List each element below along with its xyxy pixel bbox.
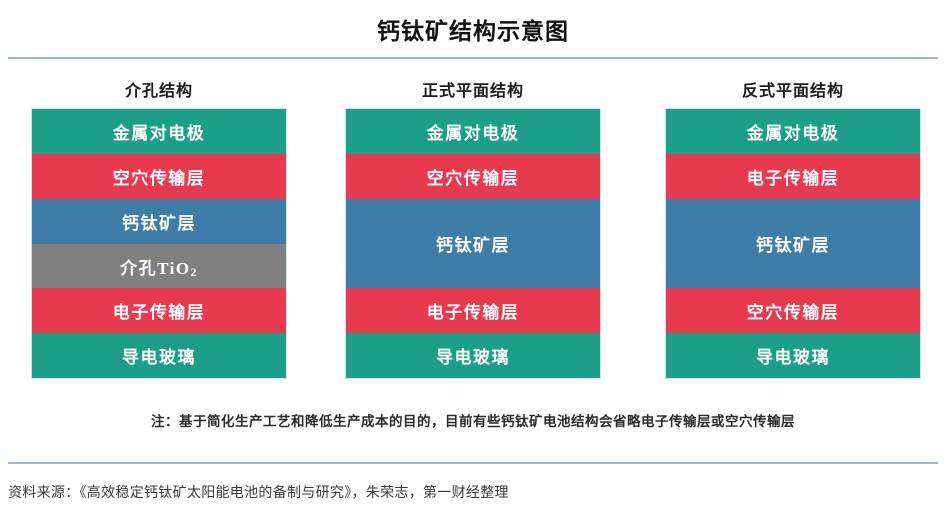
divider-bottom <box>8 462 938 464</box>
structure-layer: 空穴传输层 <box>666 288 920 333</box>
structure-layer: 金属对电极 <box>666 109 920 154</box>
structure-layer-label: 电子传输层 <box>427 298 520 323</box>
structure-layer: 导电玻璃 <box>666 333 920 378</box>
structure-layer-label: 介孔TiO2 <box>120 254 198 279</box>
layer-stack: 金属对电极空穴传输层钙钛矿层介孔TiO2电子传输层导电玻璃 <box>31 108 287 379</box>
structure-layer: 电子传输层 <box>346 288 600 333</box>
diagram-note: 注：基于简化生产工艺和降低生产成本的目的，目前有些钙钛矿电池结构会省略电子传输层… <box>0 410 946 430</box>
structure-layer: 钙钛矿层 <box>32 199 286 244</box>
structure-layer-label: 导电玻璃 <box>436 343 510 368</box>
structure-layer: 导电玻璃 <box>346 333 600 378</box>
structure-layer: 电子传输层 <box>32 288 286 333</box>
structure-layer-label: 钙钛矿层 <box>756 231 830 256</box>
structure-layer: 空穴传输层 <box>346 154 600 199</box>
structure-layer-label: 金属对电极 <box>427 119 520 144</box>
column-header: 介孔结构 <box>31 78 287 108</box>
structure-column-mesoporous: 介孔结构 金属对电极空穴传输层钙钛矿层介孔TiO2电子传输层导电玻璃 <box>31 78 287 379</box>
structure-layer: 电子传输层 <box>666 154 920 199</box>
structure-layer-label: 空穴传输层 <box>747 298 840 323</box>
structure-layer-label: 空穴传输层 <box>427 164 520 189</box>
structure-layer: 金属对电极 <box>346 109 600 154</box>
structure-layer: 介孔TiO2 <box>32 244 286 288</box>
structure-layer: 空穴传输层 <box>32 154 286 199</box>
divider-top <box>8 57 938 59</box>
structure-layer-label: 钙钛矿层 <box>122 209 196 234</box>
structure-layer-label: 导电玻璃 <box>122 343 196 368</box>
structure-layer-label: 钙钛矿层 <box>436 231 510 256</box>
structure-column-regular-planar: 正式平面结构 金属对电极空穴传输层钙钛矿层电子传输层导电玻璃 <box>345 78 601 379</box>
page-title: 钙钛矿结构示意图 <box>0 12 946 46</box>
structure-layer: 金属对电极 <box>32 109 286 154</box>
layer-stack: 金属对电极电子传输层钙钛矿层空穴传输层导电玻璃 <box>665 108 921 379</box>
structure-layer-label: 导电玻璃 <box>756 343 830 368</box>
structure-layer: 导电玻璃 <box>32 333 286 378</box>
structure-layer-label: 电子传输层 <box>747 164 840 189</box>
perovskite-structure-diagram: 介孔结构 金属对电极空穴传输层钙钛矿层介孔TiO2电子传输层导电玻璃 正式平面结… <box>0 78 946 388</box>
structure-column-inverted-planar: 反式平面结构 金属对电极电子传输层钙钛矿层空穴传输层导电玻璃 <box>665 78 921 379</box>
structure-layer-label: 空穴传输层 <box>113 164 206 189</box>
structure-layer: 钙钛矿层 <box>346 199 600 288</box>
structure-layer-label: 金属对电极 <box>747 119 840 144</box>
layer-stack: 金属对电极空穴传输层钙钛矿层电子传输层导电玻璃 <box>345 108 601 379</box>
structure-layer-label: 电子传输层 <box>113 298 206 323</box>
column-header: 正式平面结构 <box>345 78 601 108</box>
source-line: 资料来源：《高效稳定钙钛矿太阳能电池的备制与研究》，朱荣志，第一财经整理 <box>8 482 938 502</box>
structure-layer: 钙钛矿层 <box>666 199 920 288</box>
structure-layer-label: 金属对电极 <box>113 119 206 144</box>
column-header: 反式平面结构 <box>665 78 921 108</box>
